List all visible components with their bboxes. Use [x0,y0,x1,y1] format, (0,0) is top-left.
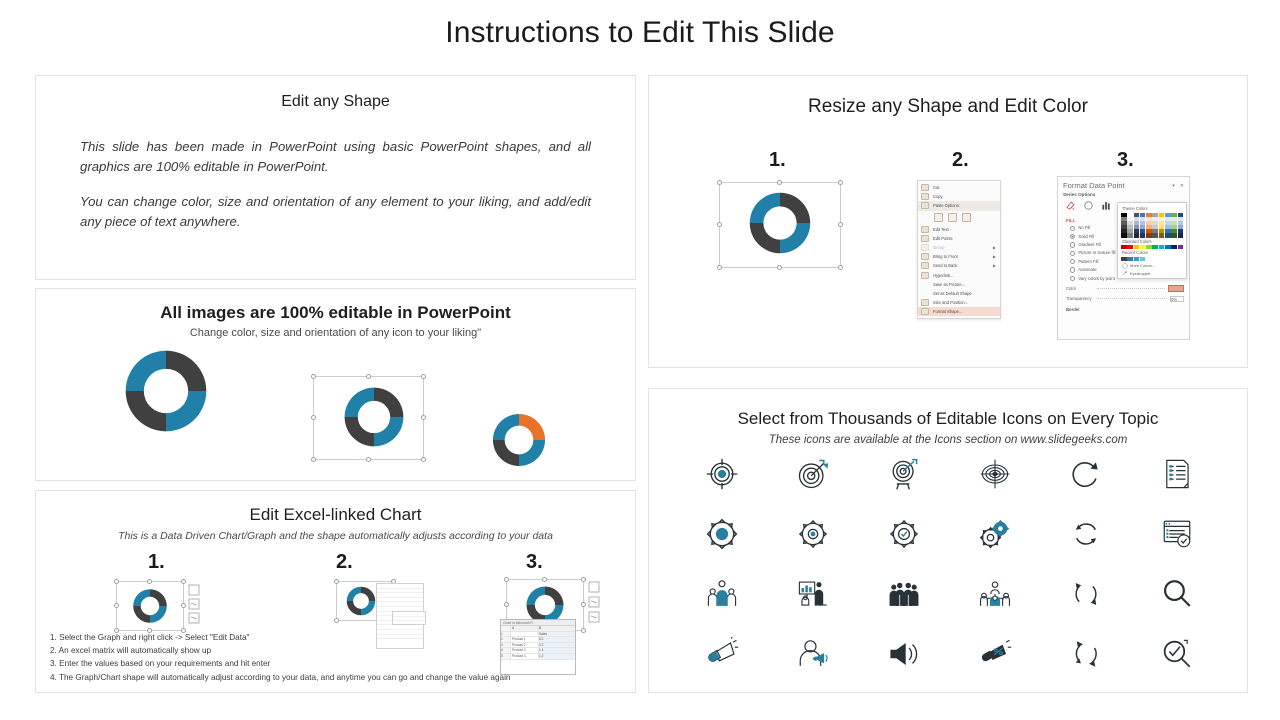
more-colors-label: More Colors... [1130,263,1155,268]
group-icon [921,244,929,251]
resize-handle-bottom-center[interactable] [366,457,371,462]
icon-search-check[interactable] [1131,632,1222,676]
panel-resize-shape-edit-color: Resize any Shape and Edit Color 1. 2. 3.… [648,75,1248,368]
color-swatch[interactable] [1127,233,1133,237]
icon-sync-vertical[interactable] [1040,572,1131,616]
color-label: Color [1066,286,1094,291]
icon-megaphone-percent[interactable] [950,632,1041,676]
icon-dartboard-arrow[interactable] [768,452,859,496]
context-menu-item-label: Edit Points [933,236,996,241]
resize-handle-top-center[interactable] [366,374,371,379]
icon-person-announce[interactable] [768,632,859,676]
color-swatch[interactable] [1140,245,1146,249]
transparency-label: Transparency [1066,296,1094,301]
panel-edit-any-shape: Edit any Shape This slide has been made … [35,75,636,280]
resize-handle-middle-right[interactable] [838,222,843,227]
panel-subtitle-icons: These icons are available at the Icons s… [649,434,1247,446]
color-swatch[interactable] [1121,257,1127,261]
scissors-icon [921,184,929,191]
context-menu-item-group: Group▶ [918,243,1000,252]
icon-sync-triangle[interactable] [1040,632,1131,676]
size-position-icon [921,299,929,306]
edit-text-icon [921,226,929,233]
resize-handle-top-left[interactable] [717,180,722,185]
context-menu-item-label: Size and Position... [933,300,996,305]
color-swatch[interactable] [1146,245,1152,249]
excel-step2-submenu[interactable] [392,611,426,625]
color-swatch[interactable] [1159,245,1165,249]
icon-team-network[interactable] [950,572,1041,616]
page-title: Instructions to Edit This Slide [0,16,1280,50]
excel-step-number-1: 1. [148,551,165,574]
eyedropper-item[interactable]: Eyedropper [1121,269,1183,277]
resize-handle-middle-right[interactable] [421,415,426,420]
icon-gear-check[interactable] [859,512,950,556]
color-swatch[interactable] [1121,245,1127,249]
resize-handle-top-center[interactable] [777,180,782,185]
resize-step-number-2: 2. [952,149,969,172]
context-menu-item-edit-points[interactable]: Edit Points [918,234,1000,243]
icon-document-approved[interactable] [1131,512,1222,556]
color-row[interactable]: Color [1058,283,1189,294]
icon-group-people[interactable] [859,572,950,616]
transparency-row[interactable]: Transparency 0% [1058,294,1189,305]
context-menu-item-hyperlink[interactable]: Hyperlink... [918,271,1000,280]
color-swatch[interactable] [1146,233,1152,237]
color-swatch[interactable] [1165,233,1171,237]
resize-handle-middle-left[interactable] [717,222,722,227]
resize-handle-bottom-left[interactable] [717,265,722,270]
color-swatch[interactable] [1127,245,1133,249]
icon-gears-double[interactable] [950,512,1041,556]
format-pane-title: Format Data Point [1063,181,1167,190]
context-menu-item-edit-text[interactable]: Edit Text [918,225,1000,234]
paste-merge-icon[interactable] [948,213,957,222]
icon-target-stand[interactable] [859,452,950,496]
panel-subtitle-excel: This is a Data Driven Chart/Graph and th… [36,530,635,542]
resize-handle-bottom-left[interactable] [334,618,339,623]
resize-handle-top-right[interactable] [581,577,586,582]
minimize-icon[interactable]: ▾ [1172,183,1175,189]
icon-team-leader[interactable] [677,572,768,616]
edit-points-icon [921,235,929,242]
color-swatch[interactable] [1134,257,1140,261]
context-menu-item-label: Paste Options: [933,203,996,208]
edit-shape-paragraph-2: You can change color, size and orientati… [80,192,591,233]
context-menu-item-label: Group [933,245,993,250]
more-colors-item[interactable]: More Colors... [1121,261,1183,269]
paste-keep-formatting-icon[interactable] [934,213,943,222]
edit-shape-paragraph-1: This slide has been made in PowerPoint u… [80,137,591,178]
resize-handle-bottom-center[interactable] [777,265,782,270]
resize-handle-top-right[interactable] [181,579,186,584]
effects-tab-icon[interactable] [1083,200,1094,212]
context-menu-item-set-as-default-shape[interactable]: Set as Default Shape [918,289,1000,298]
submenu-arrow-icon: ▶ [993,245,996,250]
context-menu-item-paste-options[interactable]: Paste Options: [918,201,1000,210]
color-swatch-button[interactable] [1168,285,1184,292]
resize-handle-top-right[interactable] [421,374,426,379]
excel-step3-float-toolbar-icon [588,581,600,625]
context-menu-item-label: Copy [933,194,996,199]
resize-handle-top-right[interactable] [838,180,843,185]
paste-icon [921,202,929,209]
resize-handle-top-left[interactable] [311,374,316,379]
palette-icon [1122,263,1128,269]
resize-handle-bottom-left[interactable] [311,457,316,462]
excel-step-number-2: 2. [336,551,353,574]
resize-handle-top-center[interactable] [147,579,152,584]
resize-handle-middle-right[interactable] [181,603,186,608]
standard-colors-row[interactable] [1121,245,1183,249]
context-menu-item-format-shape[interactable]: Format Shape... [918,307,1000,316]
color-swatch[interactable] [1152,233,1158,237]
paste-options-row[interactable] [918,211,1000,225]
copy-icon [921,193,929,200]
resize-handle-middle-left[interactable] [504,602,509,607]
icon-speaker-loud[interactable] [859,632,950,676]
color-swatch[interactable] [1140,233,1146,237]
menu-row[interactable] [393,617,425,622]
panel-title-resize: Resize any Shape and Edit Color [649,96,1247,118]
recent-colors-label: Recent Colors [1121,249,1183,257]
resize-handle-middle-right[interactable] [581,602,586,607]
color-swatch[interactable] [1171,233,1177,237]
resize-handle-bottom-right[interactable] [421,457,426,462]
icon-gear-outline[interactable] [768,512,859,556]
icon-target-crosshair[interactable] [677,452,768,496]
excel-instruction-1: 1. Select the Graph and right click -> S… [50,631,625,644]
context-menu-item-label: Format Shape... [933,309,996,314]
context-menu-item-label: Set as Default Shape [933,291,996,296]
resize-handle-top-left[interactable] [114,579,119,584]
icon-refresh-clockwise[interactable] [1040,452,1131,496]
panel-title-excel: Edit Excel-linked Chart [36,505,635,525]
donut-chart-images-left[interactable] [118,343,214,439]
fill-line-tab-icon[interactable] [1065,200,1076,212]
bring-front-icon [921,253,929,260]
submenu-arrow-icon: ▶ [993,254,996,259]
icon-refresh-circle[interactable] [1040,512,1131,556]
resize-handle-bottom-right[interactable] [838,265,843,270]
panel-title-icons: Select from Thousands of Editable Icons … [649,409,1247,429]
color-picker-popup[interactable]: Theme ColorsStandard ColorsRecent Colors… [1117,202,1187,279]
donut-chart-images-right[interactable] [488,409,550,471]
context-menu-item-size-and-position[interactable]: Size and Position... [918,298,1000,307]
slide-root: Instructions to Edit This Slide Edit any… [0,0,1280,720]
eyedropper-label: Eyedropper [1130,271,1151,276]
donut-chart-images-center[interactable] [339,382,409,452]
panel-title-images: All images are 100% editable in PowerPoi… [36,303,635,323]
color-swatch[interactable] [1152,245,1158,249]
context-menu-item-save-as-picture[interactable]: Save as Picture... [918,280,1000,289]
hyperlink-icon [921,272,929,279]
icon-megaphone[interactable] [677,632,768,676]
excel-instruction-4: 4. The Graph/Chart shape will automatica… [50,671,625,684]
context-menu-item-label: Hyperlink... [933,273,996,278]
context-menu-item-label: Save as Picture... [933,282,996,287]
context-menu-item-label: Cut [933,185,996,190]
standard-colors-label: Standard Colors [1121,238,1183,246]
excel-step1-float-toolbar-icon [188,584,200,626]
excel-instruction-list: 1. Select the Graph and right click -> S… [50,631,625,684]
icon-radar-target[interactable] [950,452,1041,496]
excel-instruction-2: 2. An excel matrix will automatically sh… [50,644,625,657]
resize-handle-top-center[interactable] [542,577,547,582]
context-menu-item-bring-to-front[interactable]: Bring to Front▶ [918,252,1000,261]
color-swatch[interactable] [1171,245,1177,249]
icon-presentation-team[interactable] [768,572,859,616]
resize-step-number-3: 3. [1117,149,1134,172]
format-shape-icon [921,308,929,315]
icon-gear-solid[interactable] [677,512,768,556]
send-back-icon [921,262,929,269]
icon-grid [677,452,1222,676]
color-swatch[interactable] [1127,257,1133,261]
color-swatch[interactable] [1140,257,1146,261]
context-menu-item-label: Bring to Front [933,254,993,259]
border-section-header[interactable]: Border [1058,304,1189,315]
resize-step-number-1: 1. [769,149,786,172]
resize-handle-middle-left[interactable] [311,415,316,420]
row-dots [1097,298,1167,299]
donut-chart-excel-step2[interactable] [344,584,378,618]
shape-context-menu[interactable]: CutCopyPaste Options:Edit TextEdit Point… [917,180,1001,319]
color-swatch[interactable] [1121,233,1127,237]
eyedropper-icon [1122,270,1128,276]
theme-tint-row-5[interactable] [1121,233,1183,237]
close-icon[interactable]: ✕ [1180,183,1184,189]
donut-chart-resize-step1[interactable] [744,187,816,259]
icon-magnifier[interactable] [1131,572,1222,616]
context-menu-item-label: Send to Back [933,263,993,268]
color-swatch[interactable] [1134,233,1140,237]
excel-instruction-3: 3. Enter the values based on your requir… [50,657,625,670]
panel-all-images-editable: All images are 100% editable in PowerPoi… [35,288,636,481]
color-swatch[interactable] [1159,233,1165,237]
resize-handle-top-left[interactable] [334,579,339,584]
panel-editable-icons: Select from Thousands of Editable Icons … [648,388,1248,693]
transparency-input[interactable]: 0% [1170,296,1184,303]
resize-handle-top-left[interactable] [504,577,509,582]
icon-checklist-document[interactable] [1131,452,1222,496]
color-swatch[interactable] [1178,245,1184,249]
excel-step-number-3: 3. [526,551,543,574]
row-dots [1097,288,1165,289]
context-menu-item-copy[interactable]: Copy [918,192,1000,201]
panel-edit-excel-chart: Edit Excel-linked Chart This is a Data D… [35,490,636,693]
panel-subtitle-images: Change color, size and orientation of an… [36,327,635,339]
context-menu-item-send-to-back[interactable]: Send to Back▶ [918,261,1000,270]
series-options-tab-icon[interactable] [1101,200,1112,212]
color-swatch[interactable] [1178,233,1184,237]
resize-handle-middle-left[interactable] [114,603,119,608]
color-swatch[interactable] [1134,245,1140,249]
color-swatch[interactable] [1165,245,1171,249]
context-menu-item-cut[interactable]: Cut [918,183,1000,192]
format-pane-header: Format Data Point ▾ ✕ [1058,177,1189,192]
submenu-arrow-icon: ▶ [993,263,996,268]
panel-title-edit-shape: Edit any Shape [36,93,635,111]
context-menu-item-label: Edit Text [933,227,996,232]
donut-chart-excel-step1[interactable] [130,586,170,626]
paste-picture-icon[interactable] [962,213,971,222]
theme-colors-label: Theme Colors [1121,205,1183,213]
